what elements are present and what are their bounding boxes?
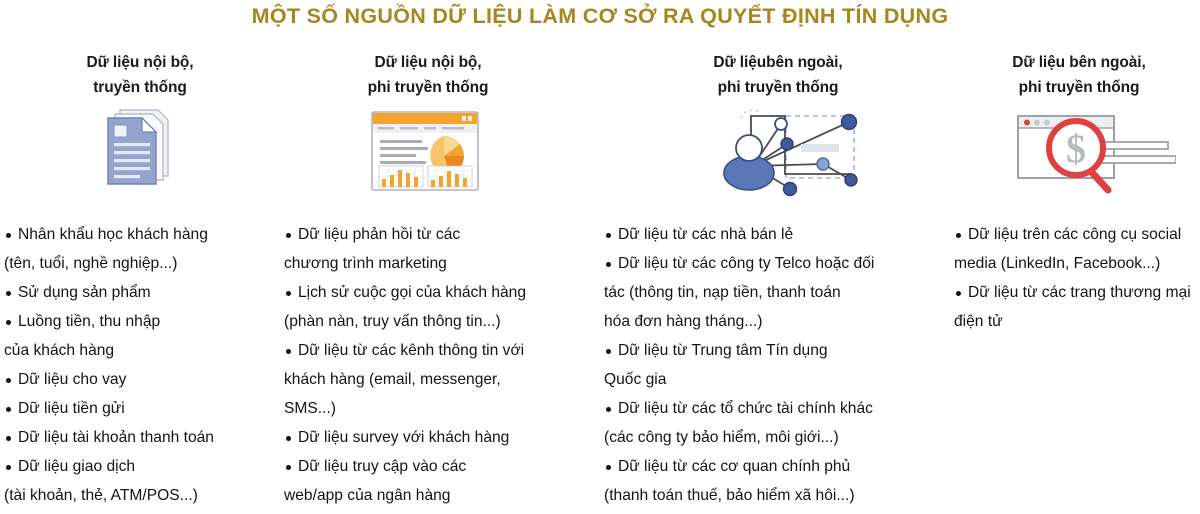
list-item: Luồng tiền, thu nhập của khách hàng xyxy=(4,307,254,365)
icon-container xyxy=(0,100,252,200)
bullet-dot xyxy=(286,436,291,441)
infographic-page: MỘT SỐ NGUỒN DỮ LIỆU LÀM CƠ SỞ RA QUYẾT … xyxy=(0,0,1200,514)
bullet-dot xyxy=(286,465,291,470)
column-heading-line1: Dữ liệu nội bộ, xyxy=(28,50,252,75)
column-heading: Dữ liệubên ngoài, phi truyền thống xyxy=(600,50,910,100)
bullet-dot xyxy=(6,407,11,412)
list-item: Dữ liệu survey với khách hàng xyxy=(284,423,574,452)
column-heading-line2: phi truyền thống xyxy=(958,75,1200,100)
list-item: Dữ liệu tiền gửi xyxy=(4,394,254,423)
column-heading: Dữ liệu nội bộ, truyền thống xyxy=(0,50,252,100)
column-heading-line1: Dữ liệu bên ngoài, xyxy=(958,50,1200,75)
bullet-dot xyxy=(606,407,611,412)
list-item: Dữ liệu trên các công cụ social media (L… xyxy=(954,220,1200,278)
list-item: Nhân khẩu học khách hàng (tên, tuổi, ngh… xyxy=(4,220,254,278)
magnifier-dollar-icon: $ xyxy=(1004,104,1176,196)
column-internal-traditional: Dữ liệu nội bộ, truyền thống xyxy=(0,50,252,200)
bullet-list: Nhân khẩu học khách hàng (tên, tuổi, ngh… xyxy=(4,220,254,510)
column-heading: Dữ liệu nội bộ, phi truyền thống xyxy=(280,50,570,100)
list-item: Dữ liệu từ các cơ quan chính phủ (thanh … xyxy=(604,452,910,510)
list-item: Dữ liệu từ các trang thương mại điện tử xyxy=(954,278,1200,336)
column-heading-line2: truyền thống xyxy=(28,75,252,100)
page-title: MỘT SỐ NGUỒN DỮ LIỆU LÀM CƠ SỞ RA QUYẾT … xyxy=(0,4,1200,29)
list-item: Dữ liệu từ các kênh thông tin với khách … xyxy=(284,336,574,423)
list-item: Dữ liệu từ các nhà bán lẻ xyxy=(604,220,910,249)
bullet-dot xyxy=(6,320,11,325)
column-heading-line1: Dữ liệubên ngoài, xyxy=(646,50,910,75)
column-heading: Dữ liệu bên ngoài, phi truyền thống xyxy=(940,50,1200,100)
list-item: Dữ liệu giao dịch (tài khoản, thẻ, ATM/P… xyxy=(4,452,254,510)
column-heading-line1: Dữ liệu nội bộ, xyxy=(286,50,570,75)
list-item: Dữ liệu từ các tổ chức tài chính khác (c… xyxy=(604,394,910,452)
list-item: Dữ liệu phản hồi từ các chương trình mar… xyxy=(284,220,574,278)
bullet-dot xyxy=(286,349,291,354)
column-heading-line2: phi truyền thống xyxy=(286,75,570,100)
bullet-dot xyxy=(286,233,291,238)
bullet-list: Dữ liệu từ các nhà bán lẻ Dữ liệu từ các… xyxy=(604,220,910,510)
icon-container xyxy=(280,100,570,200)
svg-text:$: $ xyxy=(1066,126,1086,171)
dashboard-window-icon xyxy=(364,104,486,196)
bullet-dot xyxy=(606,262,611,267)
bullet-dot xyxy=(6,378,11,383)
icon-container xyxy=(600,100,910,200)
bullet-dot xyxy=(6,291,11,296)
column-heading-line2: phi truyền thống xyxy=(646,75,910,100)
bullet-list: Dữ liệu phản hồi từ các chương trình mar… xyxy=(284,220,574,510)
bullet-dot xyxy=(956,291,961,296)
list-item: Lịch sử cuộc gọi của khách hàng (phàn nà… xyxy=(284,278,574,336)
list-item: Dữ liệu từ các công ty Telco hoặc đối tá… xyxy=(604,249,910,336)
bullet-dot xyxy=(606,233,611,238)
column-external-nontraditional-b: Dữ liệu bên ngoài, phi truyền thống xyxy=(940,50,1200,200)
person-network-icon xyxy=(711,100,859,200)
bullet-dot xyxy=(956,233,961,238)
bullet-dot xyxy=(606,465,611,470)
column-external-nontraditional-a: Dữ liệubên ngoài, phi truyền thống xyxy=(600,50,910,200)
list-item: Sử dụng sản phẩm xyxy=(4,278,254,307)
list-item: Dữ liệu cho vay xyxy=(4,365,254,394)
bullet-dot xyxy=(606,349,611,354)
list-item: Dữ liệu tài khoản thanh toán xyxy=(4,423,254,452)
bullet-list: Dữ liệu trên các công cụ social media (L… xyxy=(954,220,1200,336)
bullet-dot xyxy=(6,436,11,441)
bullet-dot xyxy=(6,233,11,238)
list-item: Dữ liệu truy cập vào các web/app của ngâ… xyxy=(284,452,574,510)
list-item: Dữ liệu từ Trung tâm Tín dụng Quốc gia xyxy=(604,336,910,394)
bullet-dot xyxy=(286,291,291,296)
icon-container: $ xyxy=(940,100,1200,200)
bullet-dot xyxy=(6,465,11,470)
column-internal-nontraditional: Dữ liệu nội bộ, phi truyền thống xyxy=(280,50,570,200)
stacked-documents-icon xyxy=(86,104,186,196)
